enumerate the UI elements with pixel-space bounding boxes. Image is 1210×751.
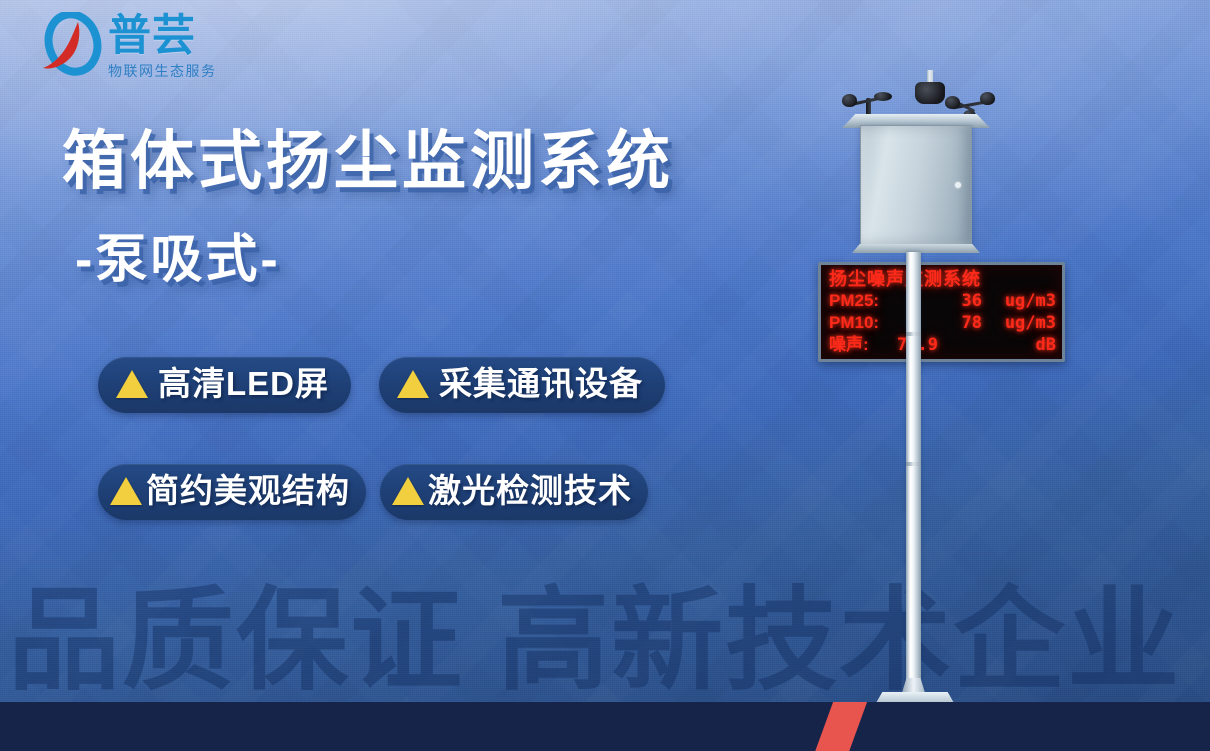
led-unit: dB [990, 334, 1056, 356]
feature-badge-row-1: 高清LED屏 采集通讯设备 [98, 357, 665, 413]
feature-badge-comm-device: 采集通讯设备 [379, 357, 665, 413]
promo-banner: 品质保证 高新技术企业 普芸 物联网生态服务 箱体式扬尘监测系统 -泵吸式- 高… [0, 0, 1210, 751]
triangle-bullet-icon [397, 370, 429, 398]
led-display-board: 扬尘噪声监测系统 PM25: 36 ug/m3 PM10: 78 ug/m3 噪… [818, 262, 1065, 362]
led-label: 噪声: [829, 334, 891, 356]
wind-vane-tail [874, 92, 892, 101]
brand-tagline: 物联网生态服务 [108, 61, 217, 81]
page-title: 箱体式扬尘监测系统 [62, 129, 674, 194]
feature-badge-label: 简约美观结构 [146, 473, 350, 509]
page-subtitle: -泵吸式- [75, 234, 281, 287]
mounting-pole [906, 252, 921, 692]
led-row-noise: 噪声: 71.9 dB [829, 334, 1056, 356]
rain-gauge-icon [915, 82, 945, 104]
led-label: PM10: [829, 312, 913, 334]
brand-name: 普芸 [108, 14, 217, 59]
feature-badge-label: 高清LED屏 [158, 366, 329, 402]
product-illustration: 扬尘噪声监测系统 PM25: 36 ug/m3 PM10: 78 ug/m3 噪… [800, 70, 1100, 710]
anemometer-cup [945, 96, 960, 109]
pole-joint [906, 462, 921, 466]
feature-badge-row-2: 简约美观结构 激光检测技术 [98, 464, 648, 520]
triangle-bullet-icon [116, 370, 148, 398]
triangle-bullet-icon [110, 477, 142, 505]
bottom-bar [0, 702, 1210, 751]
pole-joint [906, 332, 921, 336]
anemometer-cup [980, 92, 995, 105]
led-display-title: 扬尘噪声监测系统 [829, 269, 1056, 290]
wind-vane-cup [842, 94, 857, 107]
feature-badge-structure: 简约美观结构 [98, 464, 366, 520]
brand-logo: 普芸 物联网生态服务 [42, 12, 217, 81]
accent-stripe [813, 702, 870, 751]
led-label: PM25: [829, 290, 913, 312]
feature-badge-led-screen: 高清LED屏 [98, 357, 351, 413]
feature-badge-laser-tech: 激光检测技术 [380, 464, 648, 520]
led-row-pm10: PM10: 78 ug/m3 [829, 312, 1056, 334]
led-unit: ug/m3 [990, 312, 1056, 334]
pu-yun-circle-logo-icon [42, 12, 104, 78]
triangle-bullet-icon [392, 477, 424, 505]
brand-text: 普芸 物联网生态服务 [108, 12, 217, 81]
feature-badge-label: 采集通讯设备 [439, 366, 643, 402]
led-unit: ug/m3 [990, 290, 1056, 312]
led-value: 36 [913, 290, 990, 312]
led-value: 78 [913, 312, 990, 334]
equipment-cabinet [860, 125, 972, 245]
feature-badge-label: 激光检测技术 [428, 473, 632, 509]
led-row-pm25: PM25: 36 ug/m3 [829, 290, 1056, 312]
